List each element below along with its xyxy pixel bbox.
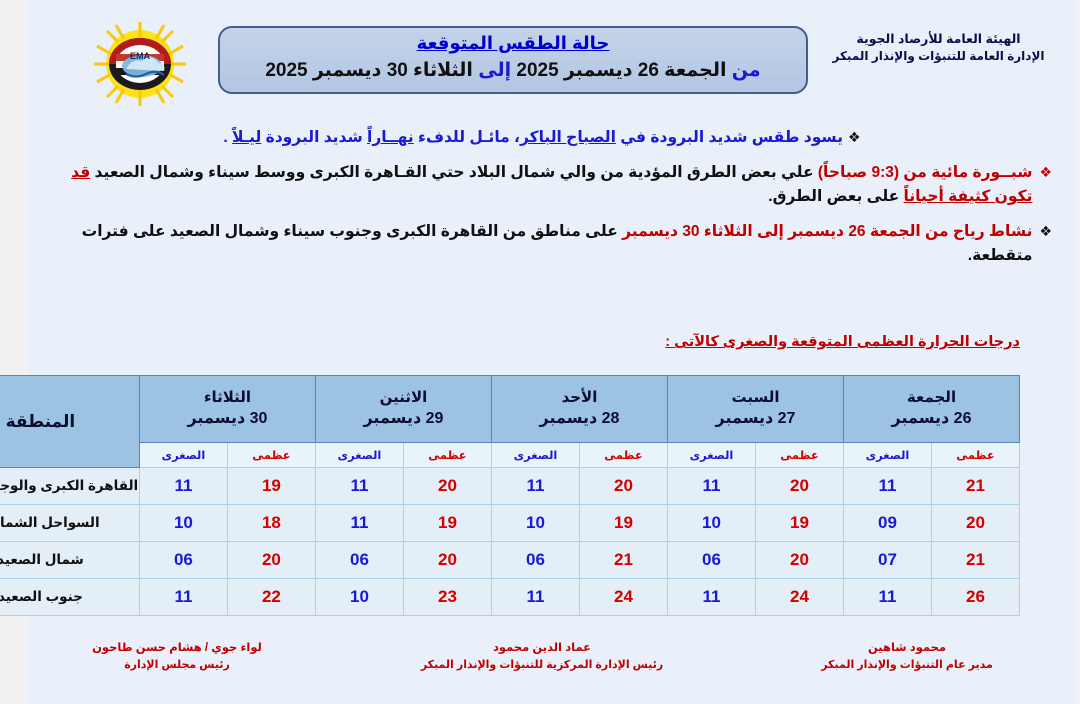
bullet-text: شبــورة مائية من (9:3 صباحاً) علي بعض ال… — [32, 161, 1034, 209]
cell-max-r2-d2: 21 — [579, 542, 667, 579]
cell-min-r0-d3: 11 — [315, 468, 403, 505]
cell-min-r1-d2: 10 — [491, 505, 579, 542]
bullet-segment: يسود طقس شديد البرودة في — [616, 129, 843, 146]
cell-max-r3-d0: 26 — [932, 579, 1020, 616]
cell-min-r2-d3: 06 — [315, 542, 403, 579]
cell-min-r3-d2: 11 — [491, 579, 579, 616]
cell-min-r1-d3: 11 — [315, 505, 403, 542]
organization-name: الهيئة العامة للأرصاد الجوية الإدارة الع… — [811, 30, 1066, 66]
cell-max-r1-d3: 19 — [403, 505, 491, 542]
cell-max-r3-d3: 23 — [403, 579, 491, 616]
title-range-start: الجمعة 26 ديسمبر 2025 — [516, 60, 726, 81]
bullet-segment: شديد البرودة — [261, 129, 367, 146]
table-region-header: المنطقة — [0, 376, 139, 468]
signature-left-title: رئيس مجلس الإدارة — [32, 657, 322, 674]
signature-right: محمود شاهين مدير عام التنبؤات والإنذار ا… — [762, 640, 1052, 674]
signature-middle-name: عماد الدين محمود — [377, 640, 707, 657]
table-day-header-3: الاثنين29 ديسمبر — [315, 376, 491, 443]
signature-middle-title: رئيس الإدارة المركزية للتنبؤات والإنذار … — [377, 657, 707, 674]
page-header: EMA حالة الطقس المتوقعة من الجمعة 26 ديس… — [0, 0, 1080, 115]
cell-min-r3-d4: 11 — [139, 579, 227, 616]
table-subheader-row: عظمىالصغرىعظمىالصغرىعظمىالصغرىعظمىالصغرى… — [0, 443, 1020, 468]
day-name: السبت — [668, 387, 843, 408]
org-line-1: الهيئة العامة للأرصاد الجوية — [811, 30, 1066, 48]
cell-max-r0-d4: 19 — [227, 468, 315, 505]
bullet-segment: ليـلاً — [232, 129, 261, 146]
table-day-header-1: السبت27 ديسمبر — [667, 376, 843, 443]
table-body: 21112011201120111911القاهرة الكبرى والوج… — [0, 468, 1020, 616]
bullet-segment: نهــاراً — [367, 129, 414, 146]
bullet-marker-icon: ❖ — [1039, 162, 1052, 184]
bullet-item: ❖ نشاط رياح من الجمعة 26 ديسمبر إلى الثل… — [32, 220, 1052, 268]
subheader-min-1: الصغرى — [667, 443, 755, 468]
cell-region-r2: شمال الصعيد — [0, 542, 139, 579]
bullet-segment: الجمعة 26 ديسمبر إلى الثلاثاء 30 ديسمبر — [622, 223, 921, 240]
title-date-range: من الجمعة 26 ديسمبر 2025 إلى الثلاثاء 30… — [220, 59, 806, 82]
bullet-marker-icon: ❖ — [848, 127, 861, 149]
page-title: حالة الطقس المتوقعة — [220, 33, 806, 54]
day-name: الاثنين — [316, 387, 491, 408]
signature-left: لواء جوي / هشام حسن طاحون رئيس مجلس الإد… — [32, 640, 322, 674]
cell-max-r2-d1: 20 — [755, 542, 843, 579]
day-date: 30 ديسمبر — [140, 408, 315, 430]
day-name: الجمعة — [844, 387, 1019, 408]
title-to: إلى — [478, 60, 511, 81]
bullet-segment: شبــورة مائية من — [899, 164, 1032, 181]
cell-max-r2-d4: 20 — [227, 542, 315, 579]
temperatures-label: درجات الحرارة العظمى المتوقعة والصغرى كا… — [665, 334, 1020, 350]
cell-max-r0-d0: 21 — [932, 468, 1020, 505]
table-day-header-4: الثلاثاء30 ديسمبر — [139, 376, 315, 443]
org-line-2: الإدارة العامة للتنبؤات والإنذار المبكر — [811, 48, 1066, 65]
cell-region-r0: القاهرة الكبرى والوجه البحري — [0, 468, 139, 505]
cell-min-r0-d0: 11 — [843, 468, 931, 505]
day-name: الثلاثاء — [140, 387, 315, 408]
ema-sun-logo: EMA — [86, 22, 194, 106]
cell-min-r3-d1: 11 — [667, 579, 755, 616]
cell-min-r3-d3: 10 — [315, 579, 403, 616]
cell-region-r1: السواحل الشمالية — [0, 505, 139, 542]
logo-svg: EMA — [86, 22, 194, 106]
day-date: 27 ديسمبر — [668, 408, 843, 430]
cell-max-r1-d0: 20 — [932, 505, 1020, 542]
title-box: حالة الطقس المتوقعة من الجمعة 26 ديسمبر … — [218, 26, 808, 94]
signature-middle: عماد الدين محمود رئيس الإدارة المركزية ل… — [377, 640, 707, 674]
day-date: 29 ديسمبر — [316, 408, 491, 430]
signatures-footer: محمود شاهين مدير عام التنبؤات والإنذار ا… — [32, 640, 1052, 674]
cell-max-r2-d0: 21 — [932, 542, 1020, 579]
bullet-segment: (9:3 صباحاً) — [818, 164, 899, 181]
table-day-header-2: الأحد28 ديسمبر — [491, 376, 667, 443]
bullet-segment: نشاط رياح من — [921, 223, 1033, 240]
subheader-max-1: عظمى — [755, 443, 843, 468]
bullet-text: نشاط رياح من الجمعة 26 ديسمبر إلى الثلاث… — [32, 220, 1034, 268]
cell-min-r0-d1: 11 — [667, 468, 755, 505]
subheader-max-4: عظمى — [227, 443, 315, 468]
cell-min-r2-d0: 07 — [843, 542, 931, 579]
cell-max-r3-d4: 22 — [227, 579, 315, 616]
subheader-max-2: عظمى — [579, 443, 667, 468]
title-range-end: الثلاثاء 30 ديسمبر 2025 — [265, 60, 473, 81]
cell-max-r3-d1: 24 — [755, 579, 843, 616]
subheader-min-3: الصغرى — [315, 443, 403, 468]
signature-right-name: محمود شاهين — [762, 640, 1052, 657]
table-day-header-row: الجمعة26 ديسمبرالسبت27 ديسمبرالأحد28 ديس… — [0, 376, 1020, 443]
bullet-text: يسود طقس شديد البرودة في الصباح الباكر، … — [223, 126, 843, 150]
bullet-segment: الصباح الباكر — [520, 129, 616, 146]
cell-min-r1-d0: 09 — [843, 505, 931, 542]
title-from: من — [732, 60, 761, 81]
cell-max-r1-d2: 19 — [579, 505, 667, 542]
day-name: الأحد — [492, 387, 667, 408]
signature-right-title: مدير عام التنبؤات والإنذار المبكر — [762, 657, 1052, 674]
bullet-segment: على بعض الطرق. — [768, 188, 903, 205]
table-row: 20091910191019111810السواحل الشمالية — [0, 505, 1020, 542]
svg-text:EMA: EMA — [130, 51, 151, 61]
cell-min-r2-d2: 06 — [491, 542, 579, 579]
bullet-segment: . — [223, 129, 232, 146]
table-row: 21072006210620062006شمال الصعيد — [0, 542, 1020, 579]
cell-max-r0-d2: 20 — [579, 468, 667, 505]
table-row: 26112411241123102211جنوب الصعيد — [0, 579, 1020, 616]
day-date: 26 ديسمبر — [844, 408, 1019, 430]
cell-max-r3-d2: 24 — [579, 579, 667, 616]
cell-max-r0-d3: 20 — [403, 468, 491, 505]
day-date: 28 ديسمبر — [492, 408, 667, 430]
cell-max-r0-d1: 20 — [755, 468, 843, 505]
cell-min-r3-d0: 11 — [843, 579, 931, 616]
subheader-max-3: عظمى — [403, 443, 491, 468]
cell-min-r1-d4: 10 — [139, 505, 227, 542]
subheader-min-4: الصغرى — [139, 443, 227, 468]
forecast-bullets: ❖ يسود طقس شديد البرودة في الصباح الباكر… — [32, 126, 1052, 279]
cell-min-r1-d1: 10 — [667, 505, 755, 542]
bullet-item: ❖ شبــورة مائية من (9:3 صباحاً) علي بعض … — [32, 161, 1052, 209]
cell-max-r1-d1: 19 — [755, 505, 843, 542]
cell-max-r1-d4: 18 — [227, 505, 315, 542]
cell-min-r0-d4: 11 — [139, 468, 227, 505]
cell-max-r2-d3: 20 — [403, 542, 491, 579]
table-row: 21112011201120111911القاهرة الكبرى والوج… — [0, 468, 1020, 505]
bullet-marker-icon: ❖ — [1039, 221, 1052, 243]
table-day-header-0: الجمعة26 ديسمبر — [843, 376, 1019, 443]
cell-min-r0-d2: 11 — [491, 468, 579, 505]
forecast-table: الجمعة26 ديسمبرالسبت27 ديسمبرالأحد28 ديس… — [0, 375, 1020, 616]
table-head: الجمعة26 ديسمبرالسبت27 ديسمبرالأحد28 ديس… — [0, 376, 1020, 468]
bullet-item: ❖ يسود طقس شديد البرودة في الصباح الباكر… — [32, 126, 1052, 150]
bullet-segment: علي بعض الطرق المؤدية من والي شمال البلا… — [90, 164, 818, 181]
forecast-page: EMA حالة الطقس المتوقعة من الجمعة 26 ديس… — [0, 0, 1080, 704]
subheader-min-2: الصغرى — [491, 443, 579, 468]
cell-min-r2-d1: 06 — [667, 542, 755, 579]
cell-min-r2-d4: 06 — [139, 542, 227, 579]
subheader-max-0: عظمى — [932, 443, 1020, 468]
forecast-table-wrapper: الجمعة26 ديسمبرالسبت27 ديسمبرالأحد28 ديس… — [62, 375, 1020, 616]
signature-left-name: لواء جوي / هشام حسن طاحون — [32, 640, 322, 657]
cell-region-r3: جنوب الصعيد — [0, 579, 139, 616]
bullet-segment: ، مائـل للدفء — [414, 129, 520, 146]
subheader-min-0: الصغرى — [843, 443, 931, 468]
